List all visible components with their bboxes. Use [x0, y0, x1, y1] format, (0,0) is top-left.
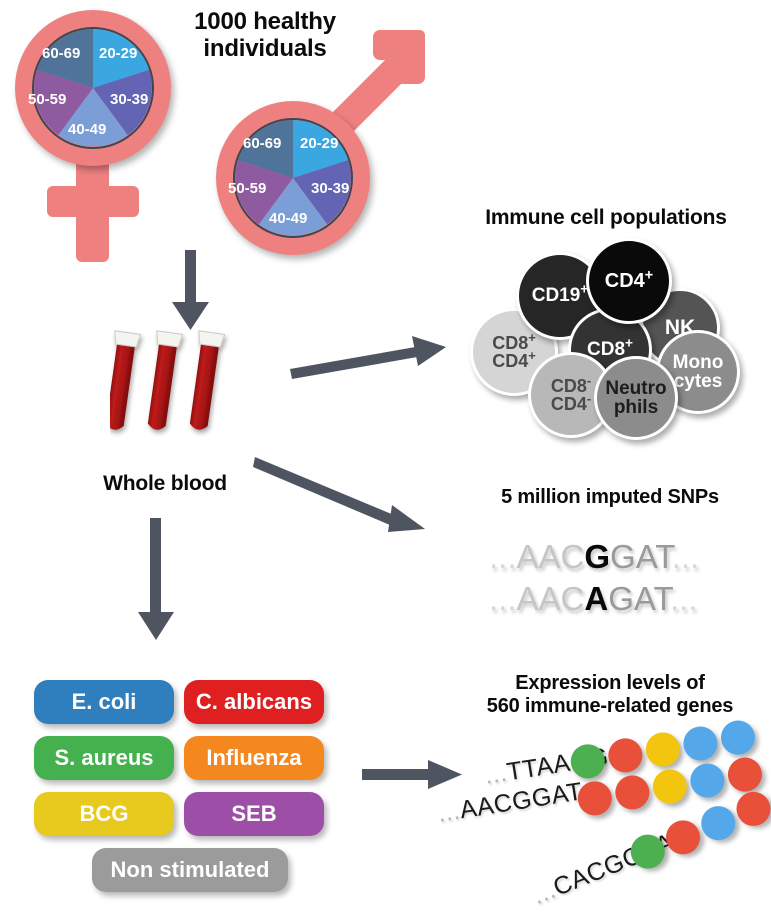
figure-canvas: 1000 healthy individuals 20-29 30-39 40-… [0, 0, 771, 922]
gene-bead [643, 730, 682, 769]
gene-bead [718, 718, 757, 757]
gene-bead [688, 761, 727, 800]
gene-bead [731, 787, 771, 831]
gene-bead [696, 801, 740, 845]
gene-bead [568, 742, 607, 781]
gene-bead [575, 779, 614, 818]
gene-bead [650, 767, 689, 806]
gene-bead [681, 724, 720, 763]
gene-bead [661, 815, 705, 859]
gene-bead [613, 773, 652, 812]
gene-bead [606, 736, 645, 775]
expression-strands: ...TTAACGG ...AACGGAT ...CACGCAA [0, 0, 771, 922]
